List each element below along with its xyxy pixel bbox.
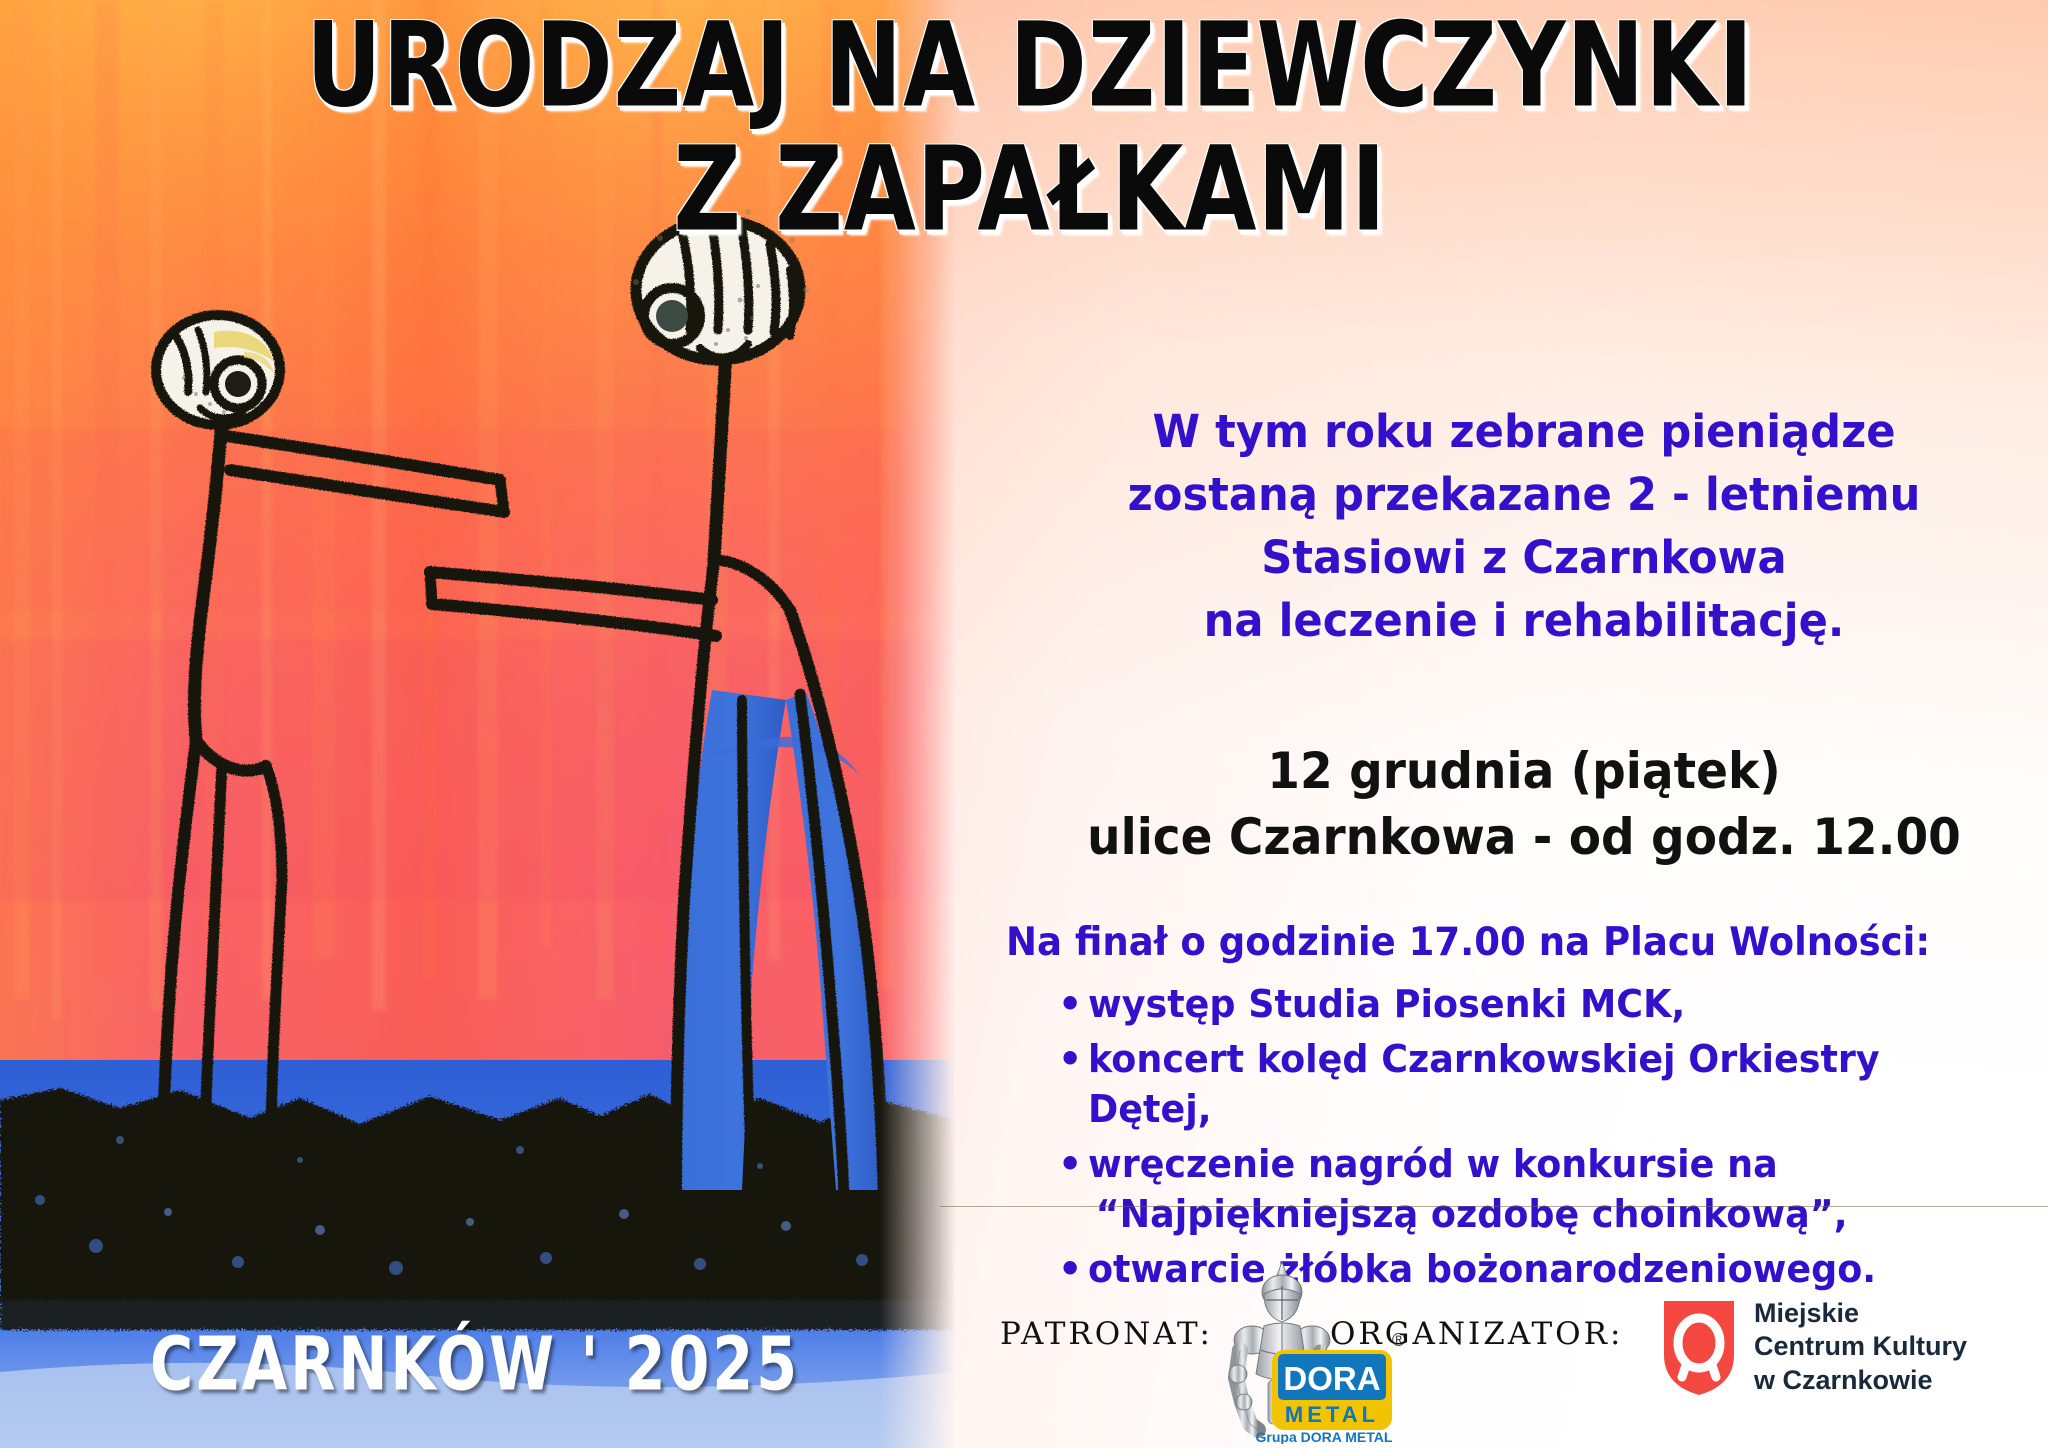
lede-line-3: Stasiowi z Czarnkowa (1021, 526, 2027, 589)
organizator-label: ORGANIZATOR: (1330, 1316, 1623, 1352)
mck-name: Miejskie Centrum Kultury w Czarnkowie (1754, 1297, 1967, 1397)
list-item: • występ Studia Piosenki MCK, (1058, 980, 2048, 1029)
divider-hairline (940, 1206, 2048, 1207)
artwork-painting (0, 0, 956, 1448)
dora-tagline: Grupa DORA METAL (1256, 1429, 1393, 1444)
bullet-icon: • (1058, 1035, 1088, 1084)
artwork-caption: CZARNKÓW ' 2025 (150, 1320, 800, 1408)
event-datetime: 12 grudnia (piątek) ulice Czarnkowa - od… (1031, 738, 2016, 870)
footer-sponsors: PATRONAT: (1000, 1280, 2048, 1440)
finale-heading: Na finał o godzinie 17.00 na Placu Wolno… (1006, 920, 1996, 965)
list-item-line-2: “Najpiękniejszą ozdobę choinkową”, (1096, 1190, 1848, 1239)
mck-line-2: Centrum Kultury (1754, 1330, 1967, 1363)
event-date: 12 grudnia (piątek) (1031, 738, 2016, 804)
lede-paragraph: W tym roku zebrane pieniądze zostaną prz… (1021, 400, 2027, 652)
lede-line-2: zostaną przekazane 2 - letniemu (1021, 463, 2027, 526)
metal-wordmark: METAL (1285, 1402, 1379, 1427)
mck-shield-icon (1660, 1297, 1738, 1397)
dora-wordmark: DORA (1283, 1360, 1380, 1397)
mck-line-1: Miejskie (1754, 1297, 1967, 1330)
list-item: • koncert kolęd Czarnkowskiej Orkiestry … (1058, 1035, 2048, 1134)
finale-program-list: • występ Studia Piosenki MCK, • koncert … (1058, 980, 2048, 1300)
bullet-icon: • (1058, 1140, 1088, 1189)
lede-line-4: na leczenie i rehabilitację. (1021, 589, 2027, 652)
list-item: • wręczenie nagród w konkursie na “Najpi… (1058, 1140, 2048, 1239)
list-item-label: wręczenie nagród w konkursie na “Najpięk… (1088, 1140, 1848, 1239)
patronat-label: PATRONAT: (1000, 1316, 1213, 1352)
poster-root: URODZAJ NA DZIEWCZYNKI Z ZAPAŁKAMI CZARN… (0, 0, 2048, 1448)
right-content-column: W tym roku zebrane pieniądze zostaną prz… (1000, 0, 2048, 1448)
mck-logo: Miejskie Centrum Kultury w Czarnkowie (1660, 1282, 2010, 1412)
lede-line-1: W tym roku zebrane pieniądze (1021, 400, 2027, 463)
event-location-time: ulice Czarnkowa - od godz. 12.00 (1031, 804, 2016, 870)
list-item-line-1: wręczenie nagród w konkursie na (1088, 1142, 1778, 1186)
bullet-icon: • (1058, 980, 1088, 1029)
list-item-label: koncert kolęd Czarnkowskiej Orkiestry Dę… (1088, 1035, 2010, 1134)
list-item-label: występ Studia Piosenki MCK, (1088, 980, 1685, 1029)
mck-line-3: w Czarnkowie (1754, 1364, 1967, 1397)
